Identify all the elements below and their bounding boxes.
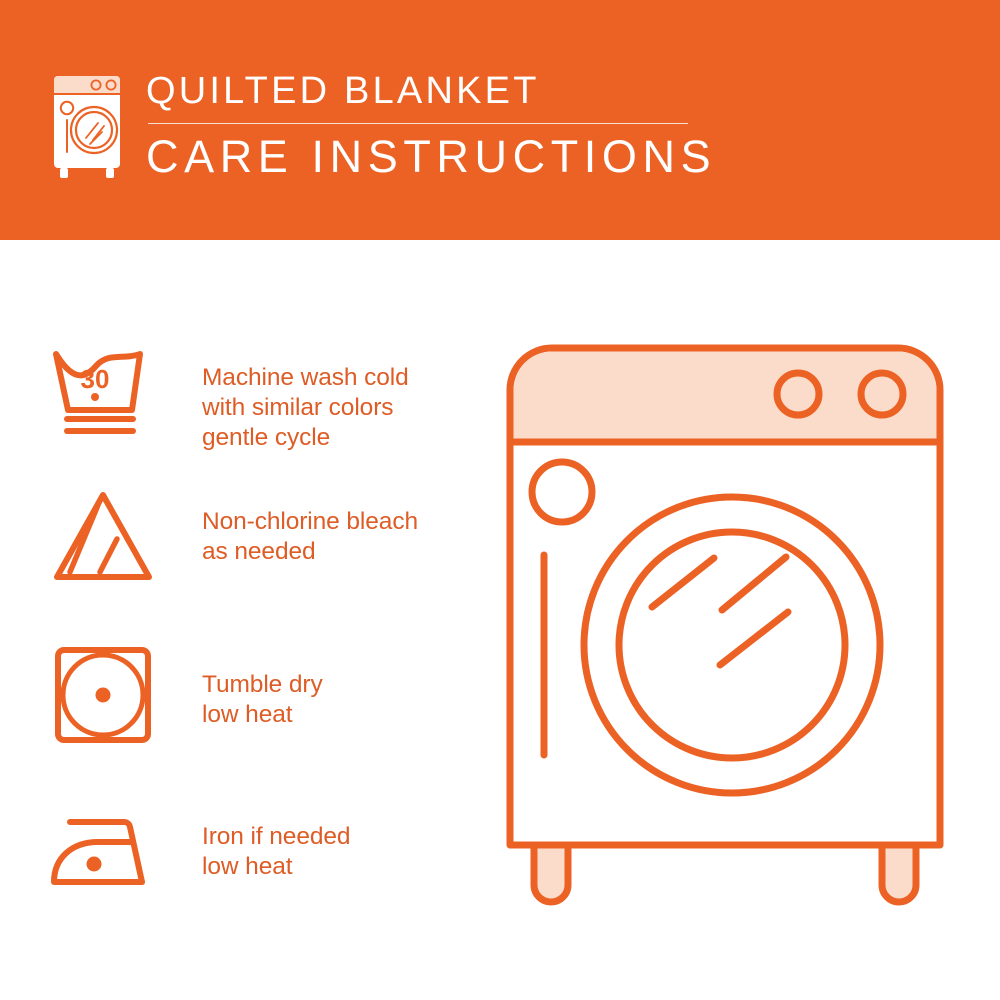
leg-right xyxy=(882,845,916,902)
care-row-tumble-dry: Tumble dry low heat xyxy=(0,640,490,750)
care-text-machine-wash: Machine wash cold with similar colors ge… xyxy=(202,363,409,453)
care-row-machine-wash: 30 Machine wash cold with similar colors… xyxy=(0,340,490,460)
care-text-tumble-dry: Tumble dry low heat xyxy=(202,670,323,730)
non-chlorine-bleach-triangle-icon xyxy=(48,485,158,595)
header-title-block: QUILTED BLANKET CARE INSTRUCTIONS xyxy=(146,68,706,184)
care-symbol-list: 30 Machine wash cold with similar colors… xyxy=(0,240,490,1000)
header-banner: QUILTED BLANKET CARE INSTRUCTIONS xyxy=(0,0,1000,240)
leg-left xyxy=(534,845,568,902)
tumble-dry-low-heat-icon xyxy=(48,640,158,750)
care-row-bleach: Non-chlorine bleach as needed xyxy=(0,485,490,595)
page-title-line1: QUILTED BLANKET xyxy=(146,68,706,114)
washer-control-panel xyxy=(514,352,937,443)
care-row-iron: Iron if needed low heat xyxy=(0,790,490,900)
title-divider xyxy=(148,123,688,124)
washing-machine-logo-icon xyxy=(46,70,128,180)
iron-low-heat-icon xyxy=(48,790,158,900)
care-text-bleach: Non-chlorine bleach as needed xyxy=(202,507,418,567)
front-load-washing-machine-illustration xyxy=(490,325,960,925)
page-title-line2: CARE INSTRUCTIONS xyxy=(146,130,706,184)
wash-temperature-label: 30 xyxy=(81,364,110,394)
care-text-iron: Iron if needed low heat xyxy=(202,822,350,882)
care-instructions-infographic: QUILTED BLANKET CARE INSTRUCTIONS 30 xyxy=(0,0,1000,1000)
wash-tub-30-icon: 30 xyxy=(48,340,158,450)
